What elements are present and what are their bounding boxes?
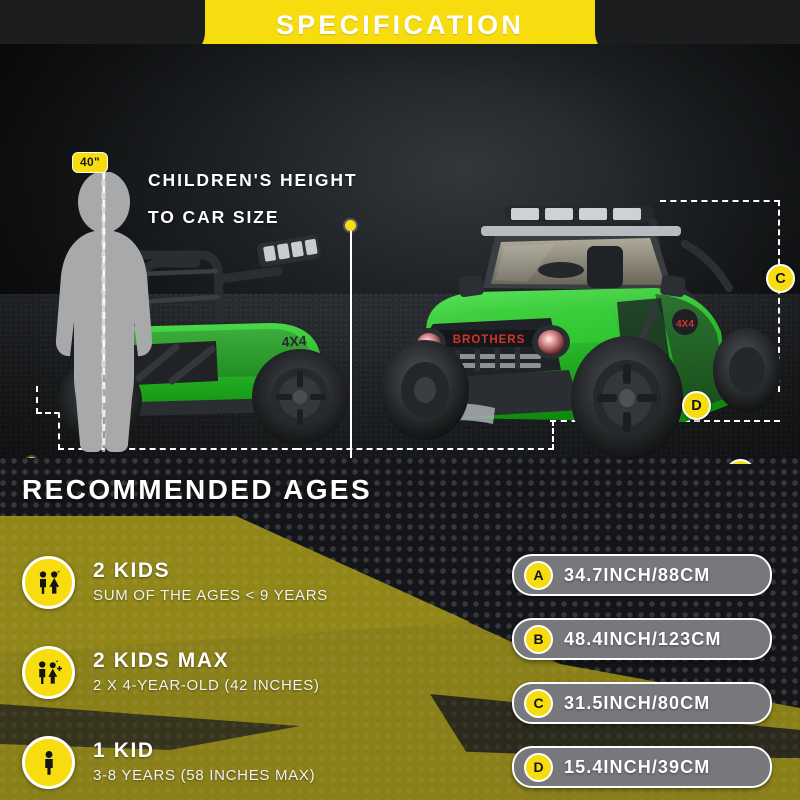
age-rows-list: 2 KIDS SUM OF THE AGES < 9 YEARS <box>22 544 452 800</box>
child-silhouette <box>44 172 164 452</box>
age-title: 1 KID <box>93 738 315 763</box>
age-title: 2 KIDS <box>93 558 328 583</box>
headline-line-1: CHILDREN'S HEIGHT <box>148 162 358 199</box>
age-row: 2 KIDS MAX 2 X 4-YEAR-OLD (42 INCHES) <box>22 634 452 710</box>
age-text-block: 1 KID 3-8 YEARS (58 INCHES MAX) <box>93 738 315 787</box>
age-subtitle: SUM OF THE AGES < 9 YEARS <box>93 585 328 607</box>
dimension-pill-d: D 15.4INCH/39CM <box>512 746 772 788</box>
age-row: 1 KID 3-8 YEARS (58 INCHES MAX) <box>22 724 452 800</box>
two-kids-max-icon <box>22 646 75 699</box>
dim-marker-c: C <box>766 264 795 293</box>
hero-photo-panel: 40" CHILDREN'S HEIGHT TO CAR SIZE <box>0 44 800 464</box>
dimension-pills-list: A 34.7INCH/88CM B 48.4INCH/123CM C 31.5I… <box>512 554 772 800</box>
dimension-key-a: A <box>524 561 553 590</box>
dimension-value-d: 15.4INCH/39CM <box>564 757 710 778</box>
svg-text:4X4: 4X4 <box>281 332 307 350</box>
vehicle-4x4-decal: 4X4 <box>676 319 694 330</box>
one-kid-icon <box>22 736 75 789</box>
ride-on-car-front-view: 4X4 BROTHERS <box>355 184 800 464</box>
dimension-pill-b: B 48.4INCH/123CM <box>512 618 772 660</box>
recommended-ages-section: RECOMMENDED AGES 2 KI <box>0 458 800 800</box>
dimension-value-a: 34.7INCH/88CM <box>564 565 710 586</box>
dim-marker-d: D <box>682 391 711 420</box>
age-subtitle: 2 X 4-YEAR-OLD (42 INCHES) <box>93 675 320 697</box>
dimension-key-c: C <box>524 689 553 718</box>
vehicle-brand-text: BROTHERS <box>453 334 526 346</box>
dimension-key-d: D <box>524 753 553 782</box>
age-title: 2 KIDS MAX <box>93 648 320 673</box>
age-row: 2 KIDS SUM OF THE AGES < 9 YEARS <box>22 544 452 620</box>
spec-banner-title: SPECIFICATION <box>0 0 800 50</box>
age-subtitle: 3-8 YEARS (58 INCHES MAX) <box>93 765 315 787</box>
height-tag-40: 40" <box>72 152 108 173</box>
dimension-value-b: 48.4INCH/123CM <box>564 629 721 650</box>
age-text-block: 2 KIDS MAX 2 X 4-YEAR-OLD (42 INCHES) <box>93 648 320 697</box>
dimension-value-c: 31.5INCH/80CM <box>564 693 710 714</box>
dimension-key-b: B <box>524 625 553 654</box>
dimension-pill-c: C 31.5INCH/80CM <box>512 682 772 724</box>
age-text-block: 2 KIDS SUM OF THE AGES < 9 YEARS <box>93 558 328 607</box>
recommended-ages-title: RECOMMENDED AGES <box>22 474 372 506</box>
two-kids-icon <box>22 556 75 609</box>
specification-infographic: SPECIFICATION 40" CHILDREN'S HEIGHT TO C… <box>0 0 800 800</box>
dimension-pill-a: A 34.7INCH/88CM <box>512 554 772 596</box>
